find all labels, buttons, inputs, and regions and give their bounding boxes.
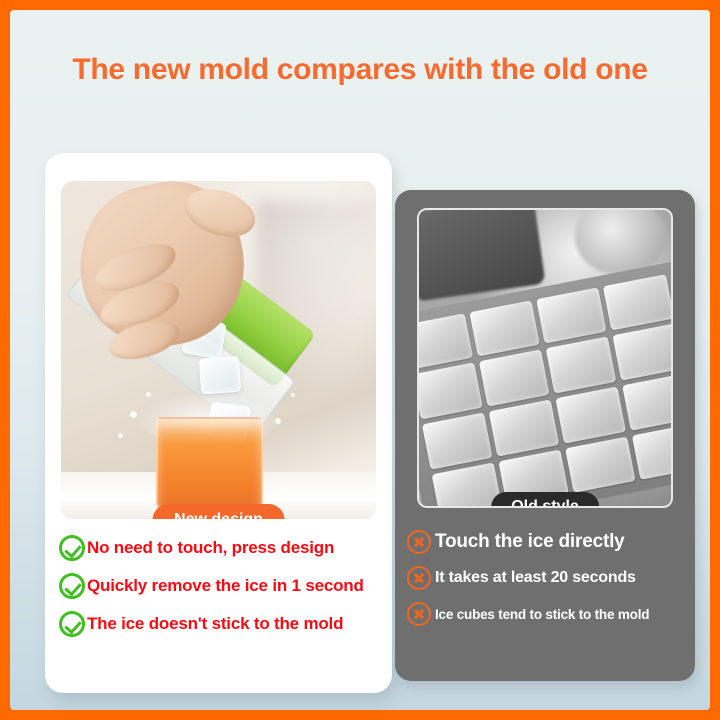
drawback-label: It takes at least 20 seconds — [435, 569, 636, 587]
water-droplet — [146, 392, 151, 397]
tray-ice-cube — [546, 337, 617, 394]
drawback-label: Ice cubes tend to stick to the mold — [435, 607, 649, 622]
tray-ice-cube — [603, 274, 673, 331]
tray-cell-grid — [417, 274, 673, 508]
x-circle-icon — [407, 602, 431, 626]
water-droplet — [130, 411, 137, 418]
tray-ice-cube — [613, 324, 673, 381]
tray-ice-cube — [417, 313, 473, 370]
drawback-label: Touch the ice directly — [435, 531, 625, 553]
tray-ice-cube — [469, 300, 540, 357]
check-circle-icon — [59, 535, 85, 561]
old-style-photo-image — [419, 210, 671, 506]
new-design-feature-list: No need to touch, press design Quickly r… — [59, 535, 381, 649]
feature-item: The ice doesn't stick to the mold — [59, 611, 381, 637]
drawback-item: It takes at least 20 seconds — [407, 566, 695, 590]
tray-ice-cube — [565, 436, 636, 493]
tray-ice-cube — [479, 350, 550, 407]
water-droplet — [118, 433, 123, 438]
old-style-panel: Old style Touch the ice directly It take… — [395, 190, 695, 681]
old-style-badge: Old style — [491, 492, 599, 508]
page-title: The new mold compares with the old one — [10, 53, 710, 87]
poster-canvas: The new mold compares with the old one — [10, 10, 710, 710]
x-circle-icon — [407, 530, 431, 554]
background-tray — [417, 208, 545, 302]
drawback-item: Touch the ice directly — [407, 530, 695, 554]
feature-label: Quickly remove the ice in 1 second — [87, 576, 364, 596]
feature-item: No need to touch, press design — [59, 535, 381, 561]
feature-item: Quickly remove the ice in 1 second — [59, 573, 381, 599]
ice-cube — [198, 355, 240, 394]
feature-label: No need to touch, press design — [87, 538, 334, 558]
new-design-photo-image — [61, 181, 376, 519]
check-circle-icon — [59, 573, 85, 599]
ice-cube-tray — [417, 261, 673, 508]
old-style-photo: Old style — [417, 208, 673, 508]
new-design-badge: New design — [152, 504, 285, 519]
drink-glass — [156, 417, 264, 512]
feature-label: The ice doesn't stick to the mold — [87, 614, 343, 634]
tray-ice-cube — [536, 287, 607, 344]
new-design-photo: New design — [61, 181, 376, 519]
tray-ice-cube — [417, 363, 483, 420]
poster-frame: The new mold compares with the old one — [0, 0, 720, 720]
old-style-drawback-list: Touch the ice directly It takes at least… — [407, 530, 695, 638]
tray-ice-cube — [489, 399, 560, 456]
drawback-item: Ice cubes tend to stick to the mold — [407, 602, 695, 626]
check-circle-icon — [59, 611, 85, 637]
new-design-card: New design No need to touch, press desig… — [45, 153, 392, 693]
tray-ice-cube — [555, 386, 626, 443]
tray-ice-cube — [632, 423, 673, 480]
tray-ice-cube — [622, 373, 673, 430]
water-droplet — [275, 418, 281, 424]
x-circle-icon — [407, 566, 431, 590]
tray-ice-cube — [422, 412, 493, 469]
